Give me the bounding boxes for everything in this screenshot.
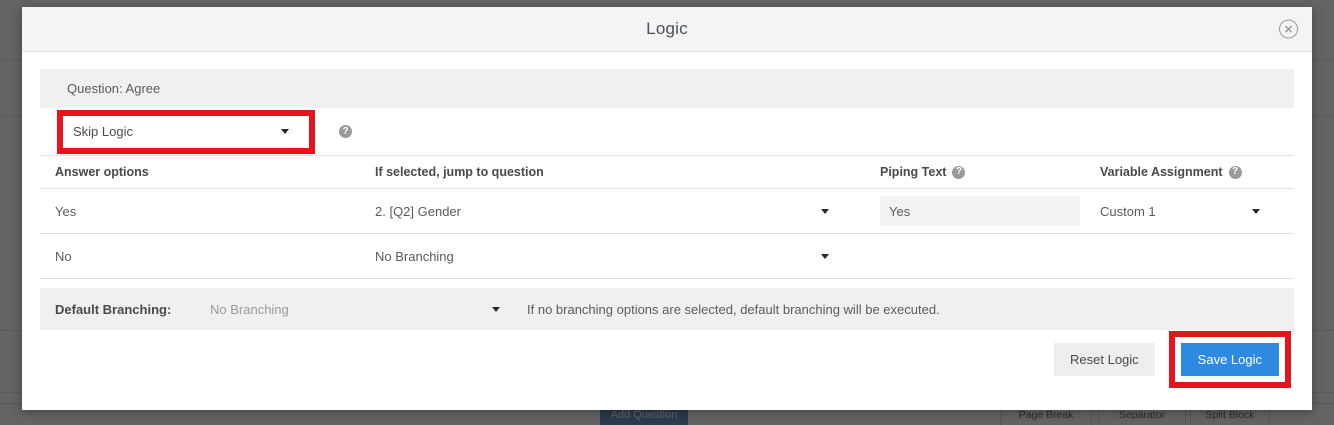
help-circle-icon[interactable]: ? xyxy=(1229,166,1242,179)
help-circle-icon[interactable]: ? xyxy=(952,166,965,179)
variable-assignment-value: Custom 1 xyxy=(1100,204,1252,219)
column-header-variable-assignment: Variable Assignment ? xyxy=(1100,156,1280,188)
close-icon[interactable]: ✕ xyxy=(1279,20,1298,39)
column-header-answer-options: Answer options xyxy=(55,156,355,188)
column-header-jump-to-question: If selected, jump to question xyxy=(375,156,845,188)
logic-modal: Logic ✕ Question: Agree Skip Logic ? Ans… xyxy=(22,7,1312,410)
default-branching-value: No Branching xyxy=(210,302,492,317)
piping-text-cell xyxy=(880,189,1085,233)
chevron-down-icon xyxy=(1252,209,1260,214)
default-branching-hint: If no branching options are selected, de… xyxy=(527,302,940,317)
jump-to-question-cell: No Branching xyxy=(375,234,845,278)
table-row: No No Branching xyxy=(40,234,1294,279)
column-header-label: If selected, jump to question xyxy=(375,165,544,179)
column-header-label: Piping Text xyxy=(880,165,946,179)
table-row: Yes 2. [Q2] Gender Custom 1 xyxy=(40,189,1294,234)
default-branching-label: Default Branching: xyxy=(55,302,171,317)
help-circle-icon[interactable]: ? xyxy=(339,125,352,138)
jump-to-question-select[interactable]: No Branching xyxy=(375,234,845,278)
question-banner: Question: Agree xyxy=(40,69,1294,108)
logic-type-value: Skip Logic xyxy=(73,124,281,139)
default-branching-select[interactable]: No Branching xyxy=(210,288,500,330)
question-banner-label: Question: Agree xyxy=(67,81,160,96)
modal-footer: Reset Logic Save Logic xyxy=(22,330,1312,388)
logic-table: Answer options If selected, jump to ques… xyxy=(40,155,1294,279)
logic-type-row: Skip Logic ? xyxy=(40,108,1294,155)
answer-option-cell: Yes xyxy=(55,189,355,233)
jump-to-question-value: No Branching xyxy=(375,249,821,264)
modal-header: Logic ✕ xyxy=(22,7,1312,52)
default-branching-row: Default Branching: No Branching If no br… xyxy=(40,288,1294,330)
piping-text-cell xyxy=(880,234,1085,278)
modal-body: Question: Agree Skip Logic ? Answer opti… xyxy=(22,69,1312,330)
variable-assignment-cell xyxy=(1100,234,1280,278)
jump-to-question-cell: 2. [Q2] Gender xyxy=(375,189,845,233)
column-header-label: Variable Assignment xyxy=(1100,165,1223,179)
variable-assignment-cell: Custom 1 xyxy=(1100,189,1280,233)
chevron-down-icon xyxy=(821,254,829,259)
answer-option-cell: No xyxy=(55,234,355,278)
save-logic-button[interactable]: Save Logic xyxy=(1181,343,1279,376)
column-header-piping-text: Piping Text ? xyxy=(880,156,1085,188)
page-title: Logic xyxy=(646,19,688,39)
jump-to-question-value: 2. [Q2] Gender xyxy=(375,204,821,219)
chevron-down-icon xyxy=(281,129,289,134)
table-header-row: Answer options If selected, jump to ques… xyxy=(40,156,1294,189)
piping-text-input[interactable] xyxy=(880,196,1080,226)
chevron-down-icon xyxy=(821,209,829,214)
answer-option-label: Yes xyxy=(55,204,76,219)
chevron-down-icon xyxy=(492,307,500,312)
reset-logic-button[interactable]: Reset Logic xyxy=(1054,343,1155,376)
answer-option-label: No xyxy=(55,249,72,264)
logic-type-select[interactable]: Skip Logic xyxy=(63,117,297,147)
jump-to-question-select[interactable]: 2. [Q2] Gender xyxy=(375,189,845,233)
variable-assignment-select[interactable]: Custom 1 xyxy=(1100,189,1260,233)
save-logic-highlight-box: Save Logic xyxy=(1169,331,1291,388)
column-header-label: Answer options xyxy=(55,165,149,179)
